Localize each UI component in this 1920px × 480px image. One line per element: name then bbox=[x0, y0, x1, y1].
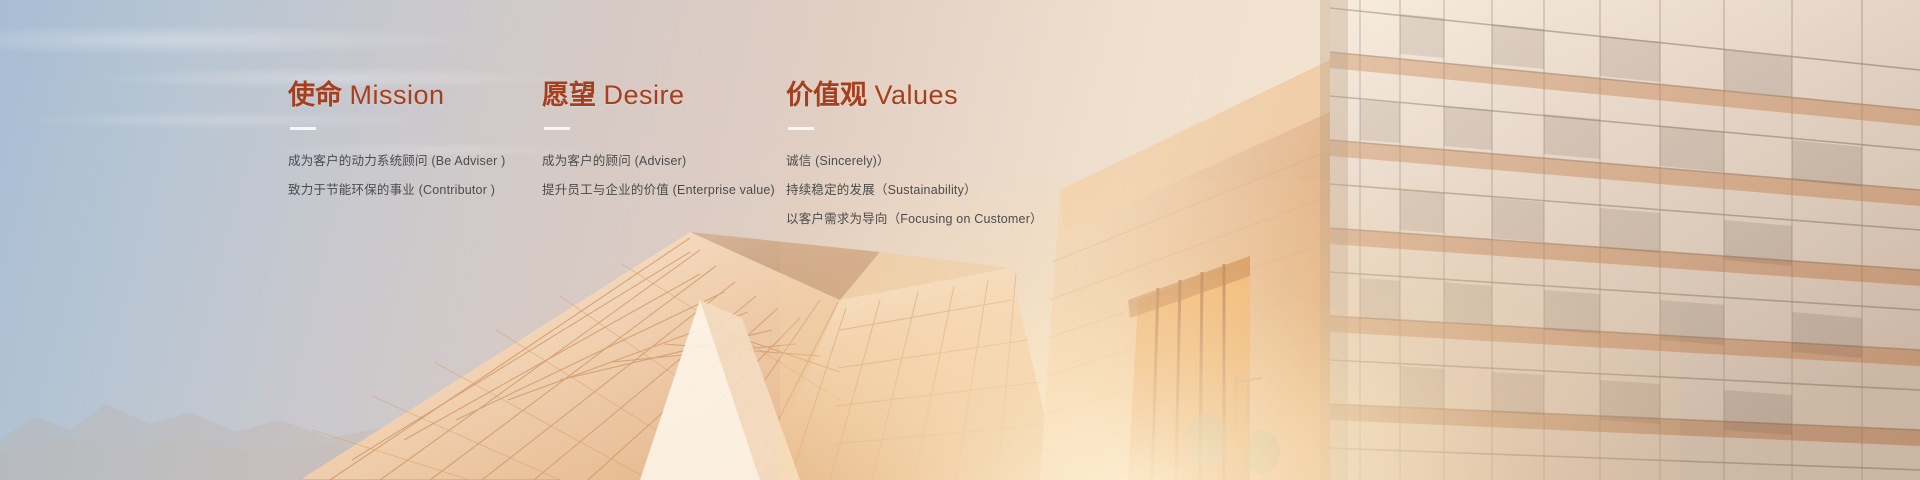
culture-column-mission: 使命 Mission 成为客户的动力系统顾问 (Be Adviser ) 致力于… bbox=[288, 78, 528, 205]
heading-mission-cn: 使命 bbox=[288, 80, 342, 110]
heading-desire-en: Desire bbox=[604, 80, 685, 110]
heading-mission: 使命 Mission bbox=[288, 78, 528, 112]
line-item: 以客户需求为导向（Focusing on Customer） bbox=[786, 205, 1086, 234]
company-culture-banner: 使命 Mission 成为客户的动力系统顾问 (Be Adviser ) 致力于… bbox=[0, 0, 1920, 480]
lines-desire: 成为客户的顾问 (Adviser) 提升员工与企业的价值 (Enterprise… bbox=[542, 147, 782, 205]
heading-mission-en: Mission bbox=[350, 80, 445, 110]
lines-mission: 成为客户的动力系统顾问 (Be Adviser ) 致力于节能环保的事业 (Co… bbox=[288, 147, 528, 205]
culture-column-desire: 愿望 Desire 成为客户的顾问 (Adviser) 提升员工与企业的价值 (… bbox=[542, 78, 782, 205]
divider-desire bbox=[544, 127, 570, 130]
culture-column-values: 价值观 Values 诚信 (Sincerely)） 持续稳定的发展（Susta… bbox=[786, 78, 1086, 234]
line-item: 持续稳定的发展（Sustainability） bbox=[786, 176, 1086, 205]
divider-values bbox=[788, 127, 814, 130]
line-item: 诚信 (Sincerely)） bbox=[786, 147, 1086, 176]
line-item: 提升员工与企业的价值 (Enterprise value) bbox=[542, 176, 782, 205]
divider-mission bbox=[290, 127, 316, 130]
heading-desire-cn: 愿望 bbox=[542, 80, 596, 110]
culture-text-overlay: 使命 Mission 成为客户的动力系统顾问 (Be Adviser ) 致力于… bbox=[0, 0, 1920, 480]
heading-desire: 愿望 Desire bbox=[542, 78, 782, 112]
heading-values-en: Values bbox=[875, 80, 959, 110]
line-item: 成为客户的顾问 (Adviser) bbox=[542, 147, 782, 176]
line-item: 成为客户的动力系统顾问 (Be Adviser ) bbox=[288, 147, 528, 176]
lines-values: 诚信 (Sincerely)） 持续稳定的发展（Sustainability） … bbox=[786, 147, 1086, 234]
line-item: 致力于节能环保的事业 (Contributor ) bbox=[288, 176, 528, 205]
heading-values-cn: 价值观 bbox=[786, 80, 867, 110]
heading-values: 价值观 Values bbox=[786, 78, 1086, 112]
